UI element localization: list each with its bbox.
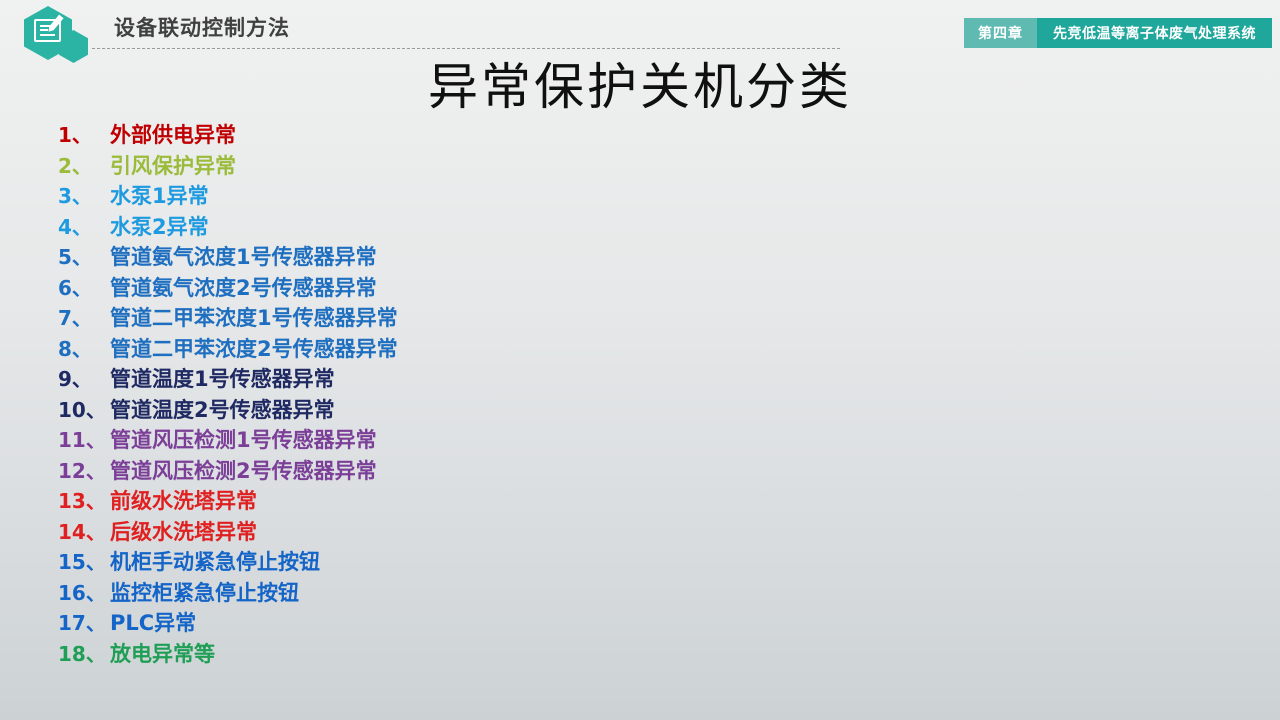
list-item-index: 4、 xyxy=(58,211,110,240)
list-item-label: 机柜手动紧急停止按钮 xyxy=(110,546,320,576)
list-item: 3、水泵1异常 xyxy=(58,180,858,211)
list-item-index: 2、 xyxy=(58,150,110,179)
list-item-label: 管道氨气浓度1号传感器异常 xyxy=(110,241,377,271)
list-item: 13、前级水洗塔异常 xyxy=(58,485,858,516)
list-item-index: 3、 xyxy=(58,180,110,209)
list-item-index: 17、 xyxy=(58,607,110,636)
list-item: 9、管道温度1号传感器异常 xyxy=(58,363,858,394)
list-item-index: 12、 xyxy=(58,455,110,484)
list-item: 17、PLC异常 xyxy=(58,607,858,638)
list-item-label: 后级水洗塔异常 xyxy=(110,516,257,546)
list-item: 6、管道氨气浓度2号传感器异常 xyxy=(58,272,858,303)
list-item: 18、放电异常等 xyxy=(58,638,858,669)
list-item-index: 8、 xyxy=(58,333,110,362)
list-item-label: 管道风压检测1号传感器异常 xyxy=(110,424,377,454)
list-item-index: 18、 xyxy=(58,638,110,667)
list-item-label: 水泵2异常 xyxy=(110,211,209,241)
note-line-3 xyxy=(40,34,55,36)
list-item-label: 管道温度2号传感器异常 xyxy=(110,394,335,424)
list-item-label: 管道二甲苯浓度1号传感器异常 xyxy=(110,302,398,332)
list-item: 11、管道风压检测1号传感器异常 xyxy=(58,424,858,455)
list-item: 7、管道二甲苯浓度1号传感器异常 xyxy=(58,302,858,333)
list-item-label: 前级水洗塔异常 xyxy=(110,485,257,515)
list-item: 14、后级水洗塔异常 xyxy=(58,516,858,547)
note-line-2 xyxy=(40,29,48,31)
list-item: 15、机柜手动紧急停止按钮 xyxy=(58,546,858,577)
list-item-index: 9、 xyxy=(58,363,110,392)
slide-header: 设备联动控制方法 第四章 先竞低温等离子体废气处理系统 xyxy=(0,0,1280,58)
list-item-index: 6、 xyxy=(58,272,110,301)
list-item-label: 外部供电异常 xyxy=(110,119,236,149)
list-item-index: 10、 xyxy=(58,394,110,423)
chapter-badge: 第四章 先竞低温等离子体废气处理系统 xyxy=(964,18,1272,48)
list-item-index: 14、 xyxy=(58,516,110,545)
list-item: 16、监控柜紧急停止按钮 xyxy=(58,577,858,608)
list-item-index: 5、 xyxy=(58,241,110,270)
list-item-index: 7、 xyxy=(58,302,110,331)
list-item-label: PLC异常 xyxy=(110,607,196,637)
list-item: 8、管道二甲苯浓度2号传感器异常 xyxy=(58,333,858,364)
header-dashed-divider xyxy=(92,48,840,49)
list-item-label: 放电异常等 xyxy=(110,638,215,668)
header-title: 设备联动控制方法 xyxy=(114,12,290,42)
list-item-index: 13、 xyxy=(58,485,110,514)
list-item: 1、外部供电异常 xyxy=(58,119,858,150)
logo-mark xyxy=(22,6,96,54)
list-item-label: 监控柜紧急停止按钮 xyxy=(110,577,299,607)
list-item: 2、引风保护异常 xyxy=(58,150,858,181)
fault-classification-list: 1、外部供电异常2、引风保护异常3、水泵1异常4、水泵2异常5、管道氨气浓度1号… xyxy=(58,119,858,668)
chapter-name-label: 先竞低温等离子体废气处理系统 xyxy=(1037,18,1272,48)
list-item-index: 16、 xyxy=(58,577,110,606)
list-item: 4、水泵2异常 xyxy=(58,211,858,242)
list-item-label: 管道温度1号传感器异常 xyxy=(110,363,335,393)
list-item-label: 管道二甲苯浓度2号传感器异常 xyxy=(110,333,398,363)
list-item-label: 管道风压检测2号传感器异常 xyxy=(110,455,377,485)
page-title: 异常保护关机分类 xyxy=(0,58,1280,116)
list-item-index: 1、 xyxy=(58,119,110,148)
list-item: 10、管道温度2号传感器异常 xyxy=(58,394,858,425)
list-item: 5、管道氨气浓度1号传感器异常 xyxy=(58,241,858,272)
chapter-number-label: 第四章 xyxy=(964,18,1037,48)
list-item-index: 11、 xyxy=(58,424,110,453)
list-item-index: 15、 xyxy=(58,546,110,575)
list-item-label: 管道氨气浓度2号传感器异常 xyxy=(110,272,377,302)
slide-root: 设备联动控制方法 第四章 先竞低温等离子体废气处理系统 异常保护关机分类 1、外… xyxy=(0,0,1280,720)
list-item-label: 水泵1异常 xyxy=(110,180,209,210)
list-item: 12、管道风压检测2号传感器异常 xyxy=(58,455,858,486)
list-item-label: 引风保护异常 xyxy=(110,150,236,180)
